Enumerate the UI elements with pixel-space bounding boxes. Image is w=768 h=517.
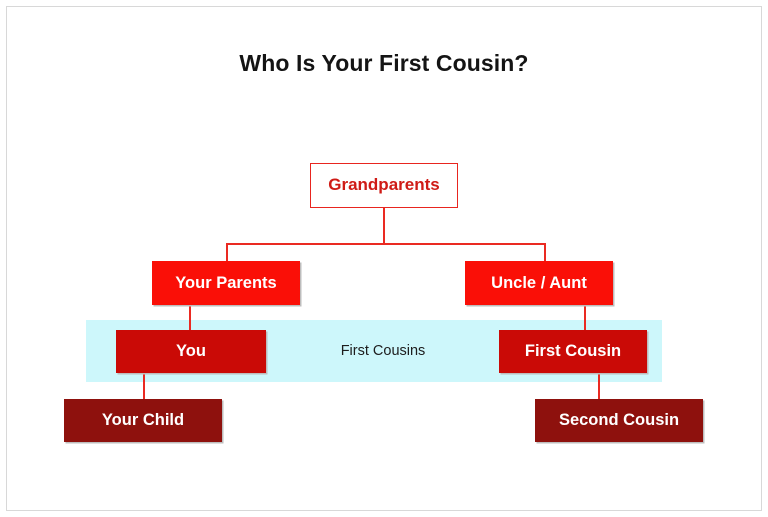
- node-second-cousin[interactable]: Second Cousin: [535, 399, 703, 442]
- node-first-cousin[interactable]: First Cousin: [499, 330, 647, 373]
- connector-your-parents-to-you: [189, 304, 191, 332]
- connector-first-cousin-to-second-cousin: [598, 372, 600, 402]
- connector-grandparents-stem: [383, 208, 385, 244]
- node-grandparents[interactable]: Grandparents: [310, 163, 458, 208]
- first-cousins-band-label: First Cousins: [266, 320, 500, 382]
- connector-to-uncle-aunt: [544, 243, 546, 261]
- connector-uncle-aunt-to-first-cousin: [584, 304, 586, 332]
- node-you[interactable]: You: [116, 330, 266, 373]
- node-your-child[interactable]: Your Child: [64, 399, 222, 442]
- connector-to-your-parents: [226, 243, 228, 261]
- connector-you-to-your-child: [143, 372, 145, 402]
- connector-grandparents-split: [227, 243, 545, 245]
- diagram-canvas: Who Is Your First Cousin? First Cousins …: [0, 0, 768, 517]
- node-uncle-aunt[interactable]: Uncle / Aunt: [465, 261, 613, 305]
- page-title: Who Is Your First Cousin?: [0, 50, 768, 77]
- node-your-parents[interactable]: Your Parents: [152, 261, 300, 305]
